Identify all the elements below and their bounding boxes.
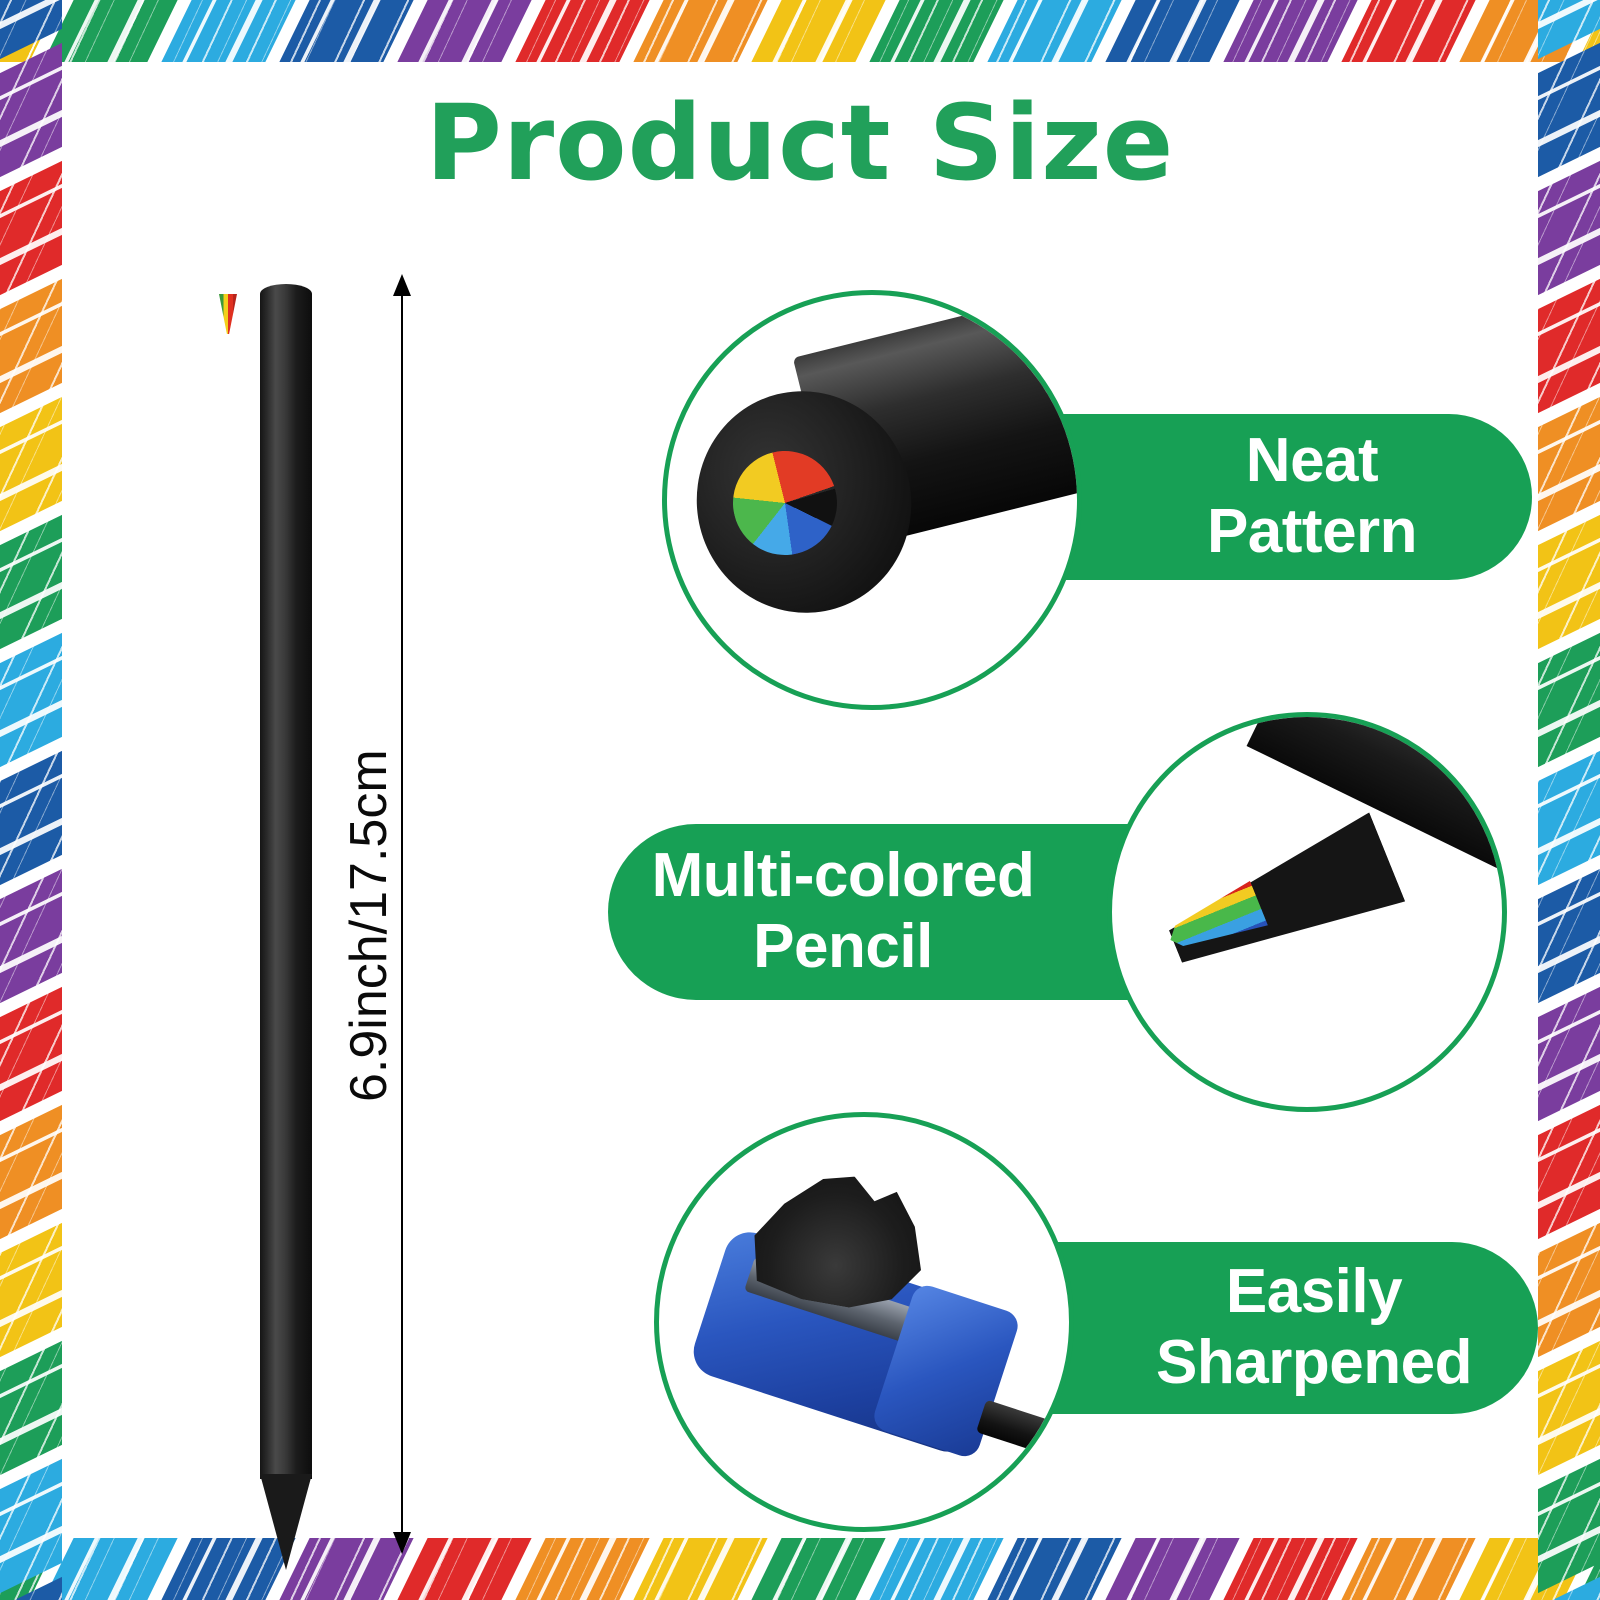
border-brush-stroke [0, 1333, 62, 1483]
page-title: Product Size [62, 86, 1538, 200]
feature-label-text: Neat Pattern [1207, 426, 1417, 567]
border-brush-stroke [1538, 271, 1600, 421]
border-brush-stroke [0, 743, 62, 893]
border-brush-stroke [1538, 979, 1600, 1129]
border-brush-stroke [0, 35, 62, 185]
border-brush-stroke [1538, 1451, 1600, 1600]
border-brush-stroke [1538, 1333, 1600, 1483]
border-brush-stroke [0, 979, 62, 1129]
border-brush-stroke [744, 1538, 893, 1600]
border-brush-stroke [1538, 625, 1600, 775]
pencil-sharpened-cone [260, 1474, 312, 1592]
pencil-rainbow-core [219, 294, 237, 334]
border-brush-stroke [1098, 0, 1247, 62]
rainbow-border-left [0, 0, 62, 1600]
dimension-label: 6.9inch/17.5cm [339, 749, 399, 1102]
label-line-1: Easily [1226, 1257, 1402, 1326]
border-brush-stroke [0, 271, 62, 421]
border-brush-stroke [1216, 0, 1365, 62]
border-brush-stroke [390, 1538, 539, 1600]
border-brush-stroke [626, 0, 775, 62]
border-brush-stroke [626, 1538, 775, 1600]
border-brush-stroke [0, 1215, 62, 1365]
border-brush-stroke [390, 0, 539, 62]
border-brush-stroke [1538, 35, 1600, 185]
feature-photo-multi-colored-pencil [1107, 712, 1507, 1112]
border-brush-stroke [1538, 153, 1600, 303]
pencil-barrel [260, 284, 312, 1479]
border-brush-stroke [272, 0, 421, 62]
dimension-line [401, 290, 403, 1552]
rainbow-border-top [0, 0, 1600, 62]
content-card: Product Size 6.9inch/17.5cm Neat Pattern [62, 62, 1538, 1500]
feature-photo-neat-pattern [662, 290, 1082, 710]
border-brush-stroke [0, 153, 62, 303]
border-brush-stroke [744, 0, 893, 62]
border-brush-stroke [862, 0, 1011, 62]
pencil-wood-cone [260, 1474, 312, 1570]
label-line-2: Sharpened [1156, 1328, 1472, 1397]
dimension-arrow-head-bottom [393, 1532, 411, 1554]
border-brush-stroke [0, 389, 62, 539]
border-brush-stroke [980, 1538, 1129, 1600]
label-line-2: Pencil [753, 912, 933, 981]
infographic-canvas: Product Size 6.9inch/17.5cm Neat Pattern [0, 0, 1600, 1600]
label-line-1: Multi-colored [652, 841, 1035, 910]
feature-label-text: Multi-colored Pencil [652, 841, 1035, 982]
rainbow-border-right [1538, 0, 1600, 1600]
border-brush-stroke [1216, 1538, 1365, 1600]
pencil-tip-wood [1156, 812, 1405, 987]
label-line-1: Neat [1246, 426, 1378, 495]
border-brush-stroke [1538, 743, 1600, 893]
border-brush-stroke [1538, 1097, 1600, 1247]
feature-photo-easily-sharpened [654, 1112, 1074, 1532]
feature-label-text: Easily Sharpened [1156, 1257, 1472, 1398]
border-brush-stroke [980, 0, 1129, 62]
border-brush-stroke [508, 1538, 657, 1600]
border-brush-stroke [0, 1451, 62, 1600]
border-brush-stroke [508, 0, 657, 62]
border-brush-stroke [1538, 389, 1600, 539]
label-line-2: Pattern [1207, 497, 1417, 566]
border-brush-stroke [862, 1538, 1011, 1600]
border-brush-stroke [0, 507, 62, 657]
rainbow-border-bottom [0, 1538, 1600, 1600]
border-brush-stroke [0, 625, 62, 775]
border-brush-stroke [1538, 507, 1600, 657]
border-brush-stroke [1334, 0, 1483, 62]
border-brush-stroke [0, 861, 62, 1011]
border-brush-stroke [0, 1097, 62, 1247]
border-brush-stroke [154, 0, 303, 62]
border-brush-stroke [1334, 1538, 1483, 1600]
border-brush-stroke [1098, 1538, 1247, 1600]
border-brush-stroke [1538, 861, 1600, 1011]
border-brush-stroke [1538, 1215, 1600, 1365]
